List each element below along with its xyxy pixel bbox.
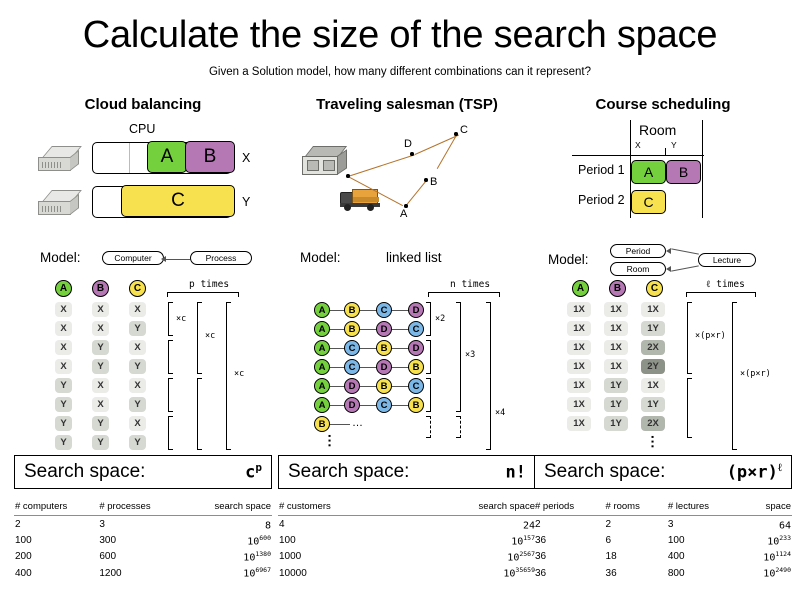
map-dot-d (410, 152, 414, 156)
model-arrow-line-cloud (166, 259, 190, 260)
tsp-group-bracket-1 (426, 302, 431, 336)
cell-space: 24 (402, 516, 536, 533)
enum-cell: Y (55, 378, 72, 393)
table-row: 2 3 8 (14, 516, 272, 533)
times-label-n: n times (450, 279, 490, 290)
enum-cell: 1X (641, 378, 665, 393)
space-base: 10 (503, 569, 515, 580)
space-base: 10 (767, 536, 779, 547)
chain-node: A (314, 378, 330, 394)
col-header: # customers (278, 499, 402, 516)
enum-cell: 1X (604, 302, 628, 317)
chain-node: B (376, 378, 392, 394)
chip-c-y: C (121, 185, 235, 217)
model-arrow-line-period (671, 248, 699, 255)
enum-cell: X (129, 340, 146, 355)
enum-cell: Y (55, 416, 72, 431)
server-icon-x (38, 146, 80, 174)
search-space-label: Search space: (288, 461, 409, 483)
cell-rooms: 2 (605, 516, 667, 533)
cell-processes: 1200 (98, 565, 181, 581)
search-space-formula: (p×r)ℓ (727, 461, 782, 483)
map-label-b: B (430, 176, 437, 188)
cpu-bar-y: C (92, 186, 232, 218)
tsp-illustration: A B C D (278, 118, 536, 248)
table-row: 100 300 10600 (14, 532, 272, 548)
enum-cell: 1Y (641, 397, 665, 412)
course-results-table: # periods # rooms # lectures space 2 2 3… (534, 499, 792, 581)
space-base: 10 (507, 552, 519, 563)
formula-base: n! (506, 463, 526, 483)
enum-cell: X (92, 302, 109, 317)
entity-period: Period (610, 244, 666, 258)
server-icon-y (38, 190, 80, 218)
chain-node: D (376, 321, 392, 337)
enum-cell: 1X (567, 321, 591, 336)
space-exp: 233 (779, 534, 791, 542)
cell-processes: 3 (98, 516, 181, 533)
col-header: # lectures (667, 499, 741, 516)
table-row: 400 1200 106967 (14, 565, 272, 581)
enum-cell: 1X (567, 416, 591, 431)
course-enumeration: A B C 1X 1X 1X 1X 1X 1Y 1X 1X 2X 1X 1X 2… (534, 278, 792, 453)
room-col-y: Y (671, 140, 677, 150)
course-model-row: Model: Period Room Lecture (534, 248, 792, 278)
course-chip-b: B (666, 160, 701, 184)
table-row: 36 18 400 101124 (534, 549, 792, 565)
enum-cell: X (55, 302, 72, 317)
model-label-tsp: Model: (300, 250, 341, 265)
formula-exponent: ℓ (778, 461, 782, 474)
entity-room: Room (610, 262, 666, 276)
grid-hline (572, 155, 704, 156)
course-multiplier-1: ×(p×r) (695, 331, 726, 341)
chain-node: D (408, 302, 424, 318)
times-brace-top-tsp (428, 292, 500, 297)
period-label-1: Period 1 (578, 163, 625, 177)
chain-line (328, 386, 410, 387)
multiplier-3: ×c (234, 369, 244, 379)
formula-base: (p×r) (727, 463, 778, 483)
group-bracket-2 (168, 340, 173, 374)
group-bracket-1 (168, 302, 173, 336)
table-header-row: # periods # rooms # lectures space (534, 499, 792, 516)
enum-cell: 1Y (604, 416, 628, 431)
entity-lecture: Lecture (698, 253, 756, 267)
chain-ellipsis: … (352, 417, 363, 429)
enum-cell: 1X (567, 397, 591, 412)
cell-space: 10157 (402, 532, 536, 548)
enum-cell: 1X (567, 302, 591, 317)
model-arrow-head-period (666, 248, 671, 254)
chain-node: A (314, 359, 330, 375)
tsp-search-space-wrap: Search space: n! (278, 453, 536, 493)
cell-rooms: 6 (605, 532, 667, 548)
times-brace-top (167, 292, 239, 297)
tsp-enumeration: n times A B C D A B D C A C B D A C D (278, 278, 536, 453)
cpu-caption: CPU (129, 122, 155, 136)
tsp-multiplier-3: ×4 (495, 408, 505, 418)
formula-exponent: p (255, 461, 262, 474)
enum-cell: 1X (604, 359, 628, 374)
cell-customers: 4 (278, 516, 402, 533)
page-title: Calculate the size of the search space (0, 14, 800, 57)
cell-space: 102490 (741, 565, 792, 581)
search-space-box-cloud: Search space: cp (14, 455, 272, 489)
enum-cell: 1Y (641, 321, 665, 336)
enum-cell: Y (92, 340, 109, 355)
col-header: # computers (14, 499, 98, 516)
cell-space: 10600 (181, 532, 272, 548)
tsp-model-row: Model: linked list (278, 248, 536, 278)
chain-node: C (344, 359, 360, 375)
model-arrow-head-room (666, 266, 671, 272)
model-label-course: Model: (548, 252, 589, 267)
course-search-space-wrap: Search space: (p×r)ℓ (534, 453, 792, 493)
chain-node: C (408, 378, 424, 394)
cell-space: 106967 (181, 565, 272, 581)
column-heading-cloud-balancing: Cloud balancing (14, 96, 272, 118)
enum-cell: X (92, 378, 109, 393)
tsp-group-bracket-6-dashed (456, 416, 461, 438)
col-header: search space (402, 499, 536, 516)
room-col-x: X (635, 140, 641, 150)
cell-space: 8 (181, 516, 272, 533)
route-depot-d (348, 154, 415, 177)
cell-computers: 200 (14, 549, 98, 565)
cell-rooms: 36 (605, 565, 667, 581)
column-heading-course: Course scheduling (534, 96, 792, 118)
enum-header-b: B (609, 280, 626, 297)
enum-cell: X (92, 321, 109, 336)
group-bracket-5 (197, 302, 202, 374)
times-brace-top-course (686, 292, 756, 297)
map-dot-depot (346, 174, 350, 178)
cloud-enumeration: A B C X X X X X Y X Y X X Y Y Y X X Y X … (14, 278, 272, 453)
space-exp: 6967 (255, 566, 271, 574)
table-row: 2 2 3 64 (534, 516, 792, 533)
course-chip-c: C (631, 190, 666, 214)
col-header: # rooms (605, 499, 667, 516)
enum-cell: Y (129, 397, 146, 412)
table-row: 200 600 101380 (14, 549, 272, 565)
map-dot-b (424, 178, 428, 182)
cell-periods: 36 (534, 549, 605, 565)
enum-cell: Y (92, 359, 109, 374)
chain-node: C (408, 321, 424, 337)
route-d-c (415, 135, 459, 156)
chain-node-partial: B (314, 416, 330, 432)
tsp-group-bracket-3 (426, 378, 431, 412)
chain-node: B (376, 340, 392, 356)
cloud-search-space-wrap: Search space: cp (14, 453, 272, 493)
column-course-scheduling: Course scheduling Room X Y Period 1 Peri… (534, 96, 792, 596)
multiplier-1: ×c (176, 314, 186, 324)
multiplier-2: ×c (205, 331, 215, 341)
cloud-illustration: CPU A B X C Y (14, 118, 272, 248)
enum-cell: Y (55, 397, 72, 412)
space-exp: 1380 (255, 550, 271, 558)
space-exp: 35659 (515, 566, 535, 574)
space-base: 10 (243, 569, 255, 580)
tsp-group-bracket-2 (426, 340, 431, 374)
chain-node: C (344, 340, 360, 356)
times-label-p: p times (189, 279, 229, 290)
period-label-2: Period 2 (578, 193, 625, 207)
chain-line (328, 367, 410, 368)
chain-line (328, 348, 410, 349)
chain-node: C (376, 302, 392, 318)
cell-customers: 10000 (278, 565, 402, 581)
search-space-label: Search space: (24, 461, 145, 483)
search-space-formula: cp (245, 461, 262, 483)
search-space-label: Search space: (544, 461, 665, 483)
tsp-group-bracket-4-dashed (426, 416, 431, 438)
chain-node: D (344, 397, 360, 413)
enum-cell: Y (129, 435, 146, 450)
cell-customers: 100 (278, 532, 402, 548)
cell-space: 64 (741, 516, 792, 533)
chain-node: B (408, 397, 424, 413)
chain-node: B (344, 302, 360, 318)
col-header: space (741, 499, 792, 516)
enum-cell: X (55, 340, 72, 355)
cell-space: 102567 (402, 549, 536, 565)
vertical-ellipsis-course: ··· (651, 435, 655, 449)
enum-cell: 1X (604, 321, 628, 336)
entity-computer: Computer (102, 251, 164, 265)
tsp-multiplier-1: ×2 (435, 314, 445, 324)
model-value-tsp: linked list (386, 250, 442, 265)
enum-header-a: A (55, 280, 72, 297)
chain-node: D (376, 359, 392, 375)
chain-node: B (408, 359, 424, 375)
enum-cell: X (129, 378, 146, 393)
enum-cell: Y (129, 359, 146, 374)
column-cloud-balancing: Cloud balancing CPU A B X C Y Model: Com… (14, 96, 272, 596)
space-base: 10 (243, 552, 255, 563)
table-row: 36 6 100 10233 (534, 532, 792, 548)
tsp-multiplier-2: ×3 (465, 350, 475, 360)
group-bracket-4 (168, 416, 173, 450)
enum-cell: Y (55, 435, 72, 450)
enum-cell: 1X (641, 302, 665, 317)
space-exp: 1124 (775, 550, 791, 558)
chain-node: A (314, 397, 330, 413)
enum-cell: X (55, 321, 72, 336)
space-base: 10 (247, 536, 259, 547)
page-subtitle: Given a Solution model, how many differe… (0, 66, 800, 78)
enum-cell: 1X (567, 359, 591, 374)
tsp-group-bracket-7 (486, 302, 491, 450)
warehouse-icon (302, 146, 348, 178)
cell-rooms: 18 (605, 549, 667, 565)
enum-cell: Y (92, 416, 109, 431)
enum-cell: 2Y (641, 359, 665, 374)
chain-line-partial (328, 424, 350, 425)
cell-space: 1035659 (402, 565, 536, 581)
entity-process: Process (190, 251, 252, 265)
enum-cell: 1X (567, 378, 591, 393)
cell-space: 101124 (741, 549, 792, 565)
enum-header-b: B (92, 280, 109, 297)
cell-space: 101380 (181, 549, 272, 565)
chain-line (328, 310, 410, 311)
space-base: 8 (265, 520, 271, 531)
course-multiplier-2: ×(p×r) (740, 369, 771, 379)
column-heading-tsp: Traveling salesman (TSP) (278, 96, 536, 118)
cell-computers: 2 (14, 516, 98, 533)
machine-tag-y: Y (242, 195, 250, 209)
enum-cell: Y (92, 435, 109, 450)
enum-header-a: A (572, 280, 589, 297)
table-header-row: # computers # processes search space (14, 499, 272, 516)
chain-node: A (314, 321, 330, 337)
chip-b-x: B (185, 141, 235, 173)
cpu-bar-x: A B (92, 142, 232, 174)
vertical-ellipsis-tsp: ··· (328, 434, 332, 448)
cell-lectures: 800 (667, 565, 741, 581)
course-illustration: Room X Y Period 1 Period 2 A B C (534, 118, 792, 248)
enum-cell: 1Y (604, 378, 628, 393)
search-space-formula: n! (506, 461, 526, 483)
tsp-group-bracket-5 (456, 302, 461, 412)
machine-tag-x: X (242, 151, 250, 165)
enum-cell: 2X (641, 416, 665, 431)
group-bracket-3 (168, 378, 173, 412)
model-arrow-line-room (671, 265, 699, 272)
search-space-box-tsp: Search space: n! (278, 455, 536, 489)
cloud-model-row: Model: Computer Process (14, 248, 272, 278)
chain-node: B (344, 321, 360, 337)
times-label-l: ℓ times (706, 279, 745, 290)
model-arrow-head-cloud (161, 256, 166, 262)
cell-periods: 36 (534, 532, 605, 548)
group-bracket-6 (197, 378, 202, 450)
enum-cell: 1X (604, 340, 628, 355)
col-header: # periods (534, 499, 605, 516)
cell-periods: 2 (534, 516, 605, 533)
cell-processes: 300 (98, 532, 181, 548)
tsp-results-table: # customers search space 4 24 100 10157 … (278, 499, 536, 581)
slide-root: Calculate the size of the search space G… (0, 0, 800, 600)
space-base: 10 (511, 536, 523, 547)
map-label-a: A (400, 208, 407, 220)
space-exp: 2567 (519, 550, 535, 558)
enum-header-c: C (646, 280, 663, 297)
space-base: 10 (763, 569, 775, 580)
enum-cell: 1Y (604, 397, 628, 412)
room-title: Room (639, 122, 676, 138)
enum-cell: Y (129, 321, 146, 336)
enum-cell: X (129, 416, 146, 431)
enum-cell: 1X (567, 340, 591, 355)
chain-node: D (344, 378, 360, 394)
chain-node: C (376, 397, 392, 413)
course-group-bracket-1 (687, 302, 692, 374)
chain-node: D (408, 340, 424, 356)
chain-node: A (314, 302, 330, 318)
col-header: search space (181, 499, 272, 516)
chain-line (328, 405, 410, 406)
chip-a-x: A (147, 141, 187, 173)
cell-processes: 600 (98, 549, 181, 565)
course-group-bracket-2-dashed (687, 378, 692, 438)
course-group-bracket-3 (732, 302, 737, 450)
col-header: # processes (98, 499, 181, 516)
search-space-box-course: Search space: (p×r)ℓ (534, 455, 792, 489)
enum-header-c: C (129, 280, 146, 297)
enum-cell: 2X (641, 340, 665, 355)
formula-base: c (245, 463, 255, 483)
cell-computers: 400 (14, 565, 98, 581)
enum-cell: X (129, 302, 146, 317)
cell-space: 10233 (741, 532, 792, 548)
chain-node: A (314, 340, 330, 356)
map-label-d: D (404, 138, 412, 150)
table-header-row: # customers search space (278, 499, 536, 516)
map-label-c: C (460, 124, 468, 136)
space-base: 64 (779, 520, 791, 531)
cell-periods: 36 (534, 565, 605, 581)
table-row: 100 10157 (278, 532, 536, 548)
table-row: 4 24 (278, 516, 536, 533)
space-exp: 600 (259, 534, 271, 542)
enum-cell: X (92, 397, 109, 412)
group-bracket-7 (226, 302, 231, 450)
cell-lectures: 400 (667, 549, 741, 565)
course-chip-a: A (631, 160, 666, 184)
chain-line (328, 329, 410, 330)
table-row: 10000 1035659 (278, 565, 536, 581)
grid-vline-right (702, 120, 703, 218)
model-label-cloud: Model: (40, 250, 81, 265)
cell-computers: 100 (14, 532, 98, 548)
cell-lectures: 3 (667, 516, 741, 533)
enum-cell: X (55, 359, 72, 374)
cell-customers: 1000 (278, 549, 402, 565)
column-tsp: Traveling salesman (TSP) A B C D (278, 96, 536, 596)
map-dot-c (454, 132, 458, 136)
space-base: 10 (763, 552, 775, 563)
table-row: 1000 102567 (278, 549, 536, 565)
map-dot-a (404, 204, 408, 208)
cloud-results-table: # computers # processes search space 2 3… (14, 499, 272, 581)
space-exp: 2490 (775, 566, 791, 574)
cell-lectures: 100 (667, 532, 741, 548)
table-row: 36 36 800 102490 (534, 565, 792, 581)
